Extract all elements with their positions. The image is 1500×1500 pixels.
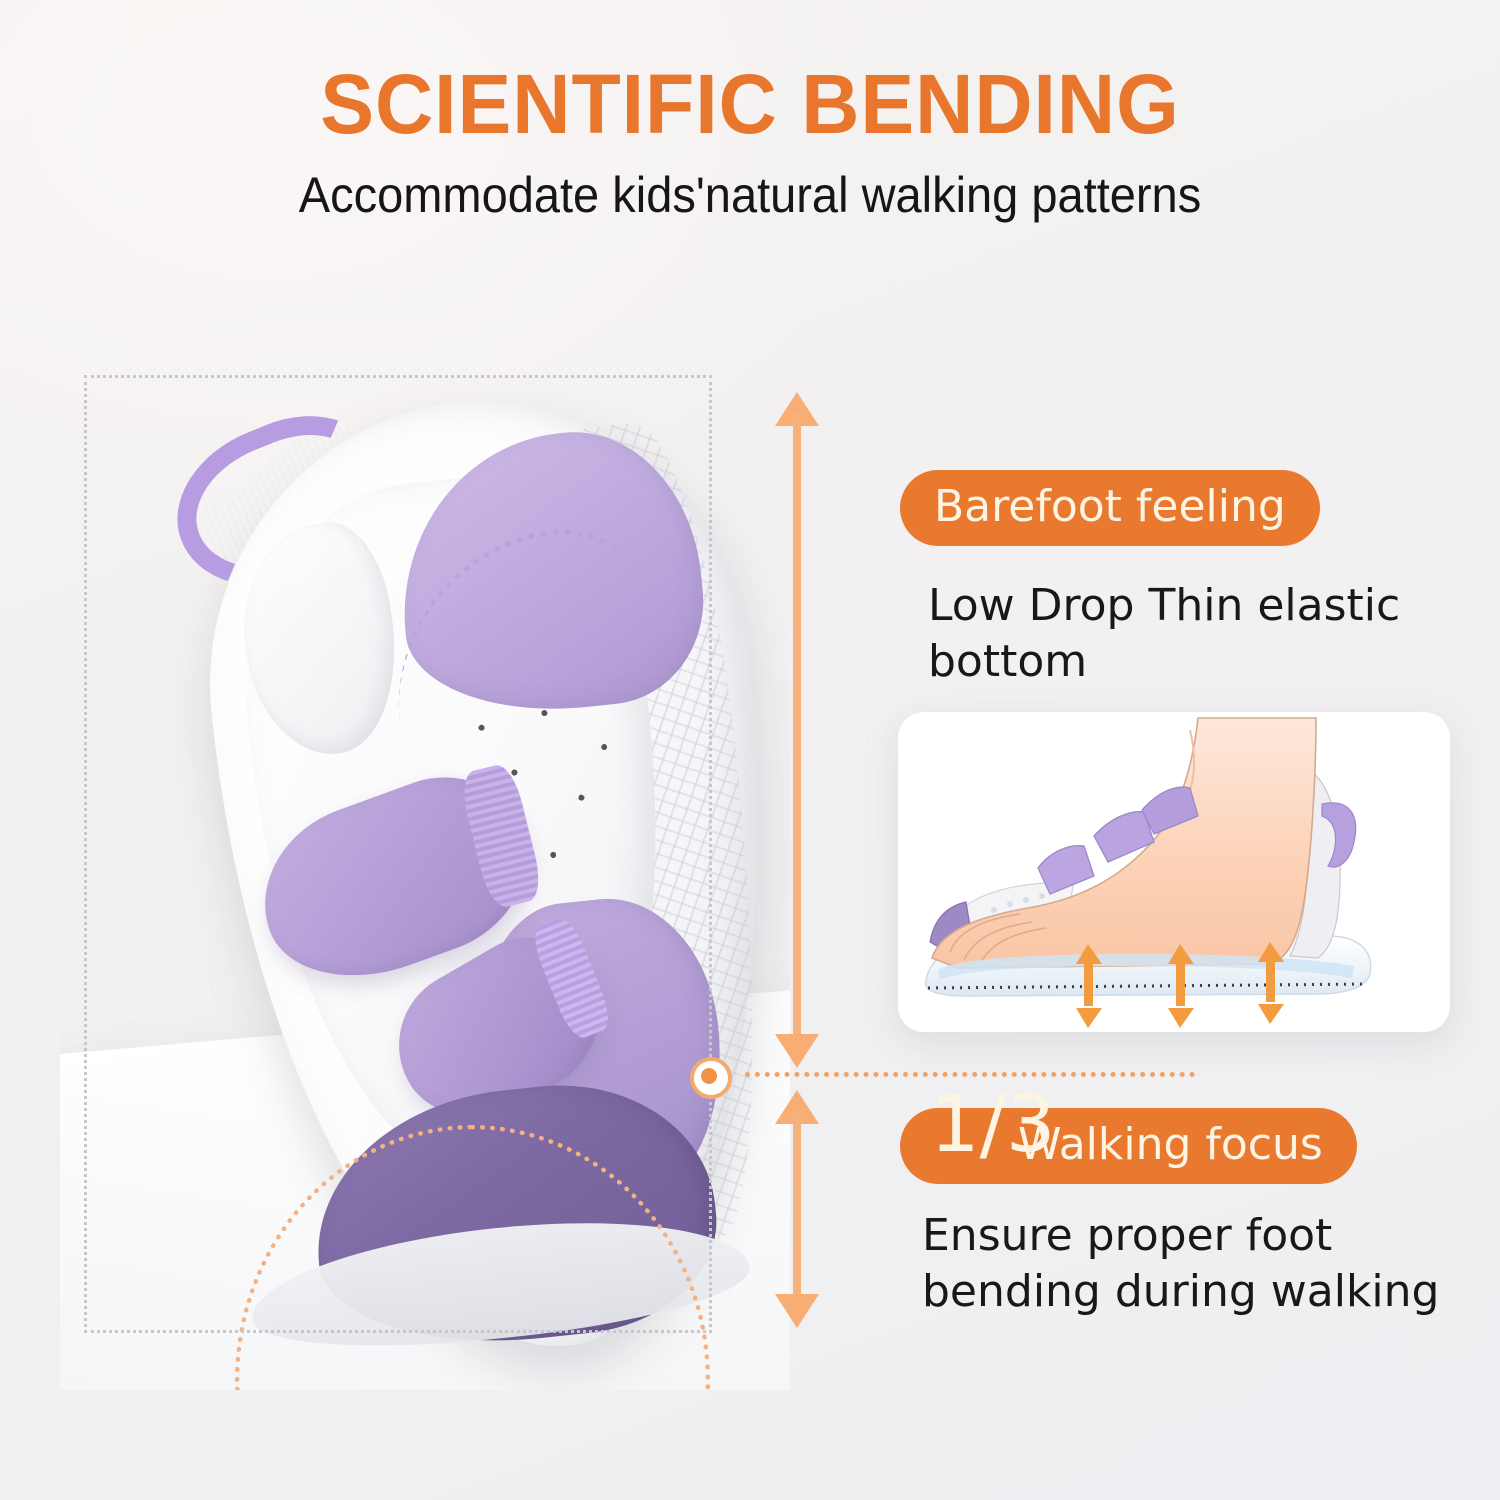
description-barefoot-feeling: Low Drop Thin elastic bottom bbox=[928, 578, 1448, 690]
badge-label: Walking focus bbox=[1018, 1119, 1323, 1170]
upper-height-arrow bbox=[775, 392, 819, 1068]
foot-in-shoe-diagram bbox=[898, 712, 1450, 1032]
strap-front bbox=[1038, 846, 1094, 894]
foot-in-shoe-illustration-card bbox=[898, 712, 1450, 1032]
flex-point-marker bbox=[690, 1057, 732, 1099]
divider-dotted-line bbox=[745, 1072, 1195, 1077]
arrow-head-down-icon bbox=[775, 1034, 819, 1068]
arrow-shaft bbox=[793, 1112, 801, 1306]
infographic-canvas: SCIENTIFIC BENDING Accommodate kids'natu… bbox=[0, 0, 1500, 1500]
page-title: SCIENTIFIC BENDING bbox=[30, 56, 1470, 152]
badge-fraction: 1/3 bbox=[930, 1086, 1056, 1164]
badge-walking-focus: 1/3 Walking focus bbox=[900, 1108, 1357, 1184]
page-subtitle: Accommodate kids'natural walking pattern… bbox=[45, 164, 1455, 226]
arrow-head-down-icon bbox=[775, 1294, 819, 1328]
badge-barefoot-feeling: Barefoot feeling bbox=[900, 470, 1320, 546]
arrow-shaft bbox=[793, 414, 801, 1046]
photo-frame-dotted-border bbox=[84, 375, 712, 1333]
flex-zone-arrow bbox=[775, 1090, 819, 1328]
badge-label: Barefoot feeling bbox=[934, 481, 1286, 532]
header: SCIENTIFIC BENDING Accommodate kids'natu… bbox=[0, 0, 1500, 226]
description-walking-focus: Ensure proper foot bending during walkin… bbox=[922, 1208, 1442, 1320]
